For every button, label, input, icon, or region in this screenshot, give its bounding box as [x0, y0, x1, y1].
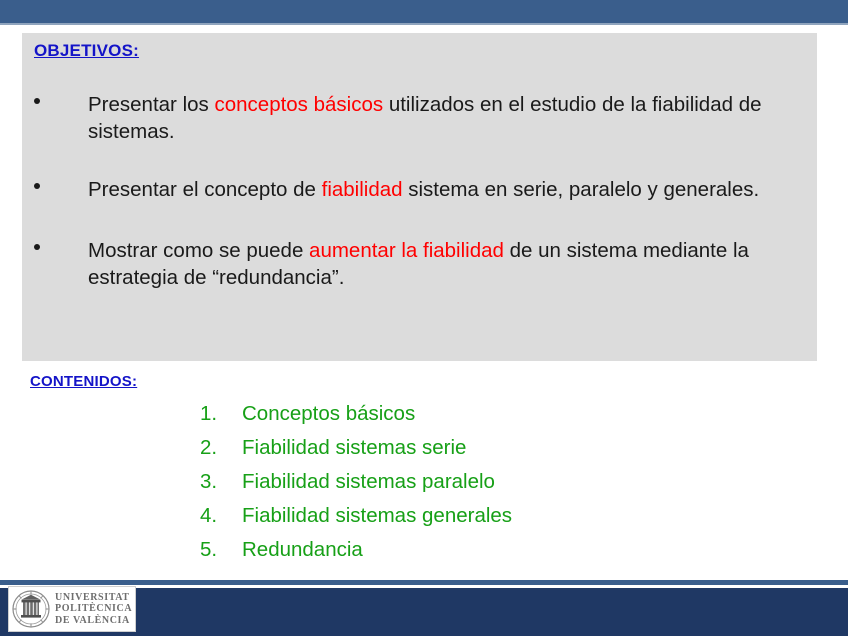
list-item-label: Fiabilidad sistemas paralelo [242, 470, 495, 494]
bullet-dot-icon [34, 183, 40, 189]
bullet-text: Presentar los conceptos básicos utilizad… [88, 93, 762, 143]
objectives-heading: OBJETIVOS: [34, 41, 139, 61]
emphasis-text: conceptos básicos [214, 93, 383, 116]
bullet-dot-icon [34, 98, 40, 104]
bullet-text: Presentar el concepto de fiabilidad sist… [88, 178, 759, 201]
top-decorative-band [0, 0, 848, 23]
list-item: 4. Fiabilidad sistemas generales [200, 504, 760, 538]
contents-list: 1. Conceptos básicos 2. Fiabilidad siste… [200, 402, 760, 572]
list-item-label: Fiabilidad sistemas serie [242, 436, 466, 460]
list-item-label: Fiabilidad sistemas generales [242, 504, 512, 528]
logo-line-1: UNIVERSITAT [55, 592, 132, 604]
list-item-label: Redundancia [242, 538, 363, 562]
list-item: 1. Conceptos básicos [200, 402, 760, 436]
bullet-item: Presentar los conceptos básicos utilizad… [22, 91, 817, 145]
university-seal-icon [11, 589, 51, 629]
top-band-edge [0, 23, 848, 25]
list-item-number: 5. [200, 538, 242, 562]
presentation-slide: OBJETIVOS: Presentar los conceptos básic… [0, 0, 848, 636]
list-item: 2. Fiabilidad sistemas serie [200, 436, 760, 470]
emphasis-text: aumentar la fiabilidad [309, 239, 504, 262]
list-item-number: 4. [200, 504, 242, 528]
logo-line-2: POLITÈCNICA [55, 603, 132, 615]
list-item-number: 2. [200, 436, 242, 460]
list-item: 5. Redundancia [200, 538, 760, 572]
bullet-dot-icon [34, 244, 40, 250]
university-logo-wordmark: UNIVERSITAT POLITÈCNICA DE VALÈNCIA [55, 592, 132, 627]
list-item: 3. Fiabilidad sistemas paralelo [200, 470, 760, 504]
logo-line-3: DE VALÈNCIA [55, 615, 132, 627]
bullet-item: Presentar el concepto de fiabilidad sist… [22, 176, 817, 206]
university-logo: UNIVERSITAT POLITÈCNICA DE VALÈNCIA [8, 586, 136, 632]
bullet-item: Mostrar como se puede aumentar la fiabil… [22, 237, 817, 291]
contents-heading: CONTENIDOS: [30, 373, 137, 390]
objectives-bullet-list: Presentar los conceptos básicos utilizad… [22, 91, 817, 322]
list-item-number: 3. [200, 470, 242, 494]
list-item-number: 1. [200, 402, 242, 426]
list-item-label: Conceptos básicos [242, 402, 415, 426]
objectives-panel: OBJETIVOS: Presentar los conceptos básic… [22, 33, 817, 361]
bullet-text: Mostrar como se puede aumentar la fiabil… [88, 239, 749, 289]
emphasis-text: fiabilidad [322, 178, 403, 201]
